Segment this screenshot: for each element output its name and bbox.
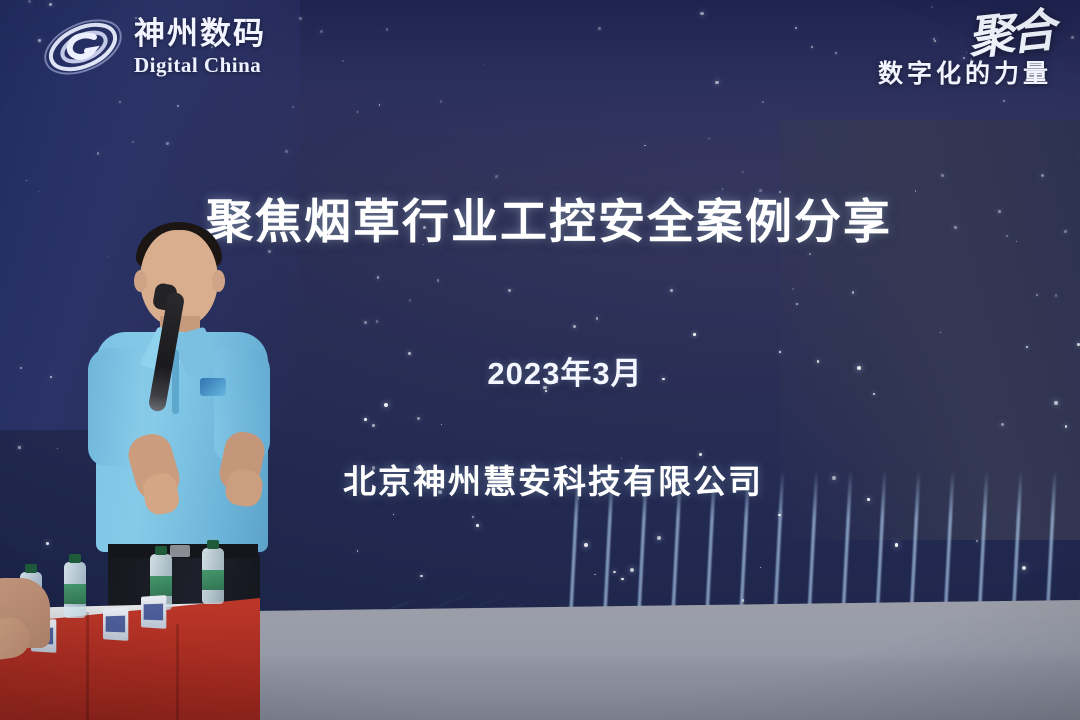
brand-juhe-mark: 聚合 bbox=[966, 10, 1054, 61]
star-dot bbox=[177, 105, 179, 107]
brand-name-cn: 神州数码 bbox=[134, 18, 266, 49]
star-dot bbox=[437, 279, 439, 281]
bottle-cap bbox=[207, 540, 219, 549]
star-dot bbox=[1036, 294, 1038, 296]
star-dot bbox=[613, 571, 615, 573]
star-dot bbox=[38, 39, 41, 42]
star-dot bbox=[742, 171, 744, 173]
star-dot bbox=[976, 540, 978, 542]
star-dot bbox=[384, 403, 388, 407]
table-skirt-fold bbox=[86, 612, 89, 720]
star-dot bbox=[132, 141, 134, 143]
name-card-text bbox=[144, 604, 163, 621]
speaker-shirt-logo bbox=[200, 378, 226, 396]
star-dot bbox=[1054, 401, 1058, 405]
star-dot bbox=[49, 3, 52, 6]
table-skirt-fold bbox=[176, 624, 179, 720]
star-dot bbox=[742, 599, 745, 602]
water-bottle bbox=[64, 562, 86, 618]
brand-digital-china: 神州数码 Digital China bbox=[44, 16, 266, 78]
bottle-cap bbox=[155, 546, 167, 555]
bottle-label bbox=[64, 584, 86, 604]
star-dot bbox=[166, 142, 169, 145]
star-dot bbox=[320, 30, 323, 33]
star-dot bbox=[285, 150, 288, 153]
star-dot bbox=[795, 27, 797, 29]
bottle-label bbox=[202, 570, 224, 590]
star-dot bbox=[693, 333, 695, 335]
brand-name-en: Digital China bbox=[134, 55, 266, 76]
speaker-belt-buckle bbox=[170, 545, 190, 557]
bottle-cap bbox=[69, 554, 81, 563]
star-dot bbox=[621, 578, 624, 581]
name-card bbox=[103, 607, 128, 641]
brand-juhe: 聚合 数字化的力量 bbox=[878, 14, 1052, 90]
star-dot bbox=[372, 424, 375, 427]
star-dot bbox=[715, 81, 718, 84]
water-bottle bbox=[202, 548, 224, 604]
speaker-ear-left bbox=[134, 270, 147, 292]
star-dot bbox=[299, 17, 302, 20]
bottle-label bbox=[150, 576, 172, 596]
star-dot bbox=[97, 152, 100, 155]
star-dot bbox=[778, 514, 781, 517]
star-dot bbox=[940, 332, 941, 333]
star-dot bbox=[594, 574, 596, 576]
star-dot bbox=[792, 288, 793, 289]
star-dot bbox=[364, 418, 367, 421]
speaker-figure bbox=[86, 222, 276, 642]
star-dot bbox=[573, 325, 576, 328]
star-dot bbox=[417, 417, 420, 420]
star-dot bbox=[700, 12, 703, 15]
star-dot bbox=[342, 60, 344, 62]
star-dot bbox=[598, 27, 601, 30]
brand-juhe-tagline: 数字化的力量 bbox=[878, 54, 1052, 90]
star-dot bbox=[292, 106, 294, 108]
bottle-cap bbox=[25, 564, 37, 573]
star-dot bbox=[584, 543, 588, 547]
star-dot bbox=[409, 299, 412, 302]
star-dot bbox=[26, 180, 27, 181]
star-dot bbox=[18, 446, 21, 449]
foreground-table bbox=[0, 580, 260, 720]
speaker-ear-right bbox=[212, 270, 225, 292]
name-card-text bbox=[106, 616, 125, 633]
star-dot bbox=[393, 514, 394, 515]
digital-china-swirl-icon bbox=[44, 16, 122, 78]
conference-photo: 神州数码 Digital China 聚合 数字化的力量 聚焦烟草行业工控安全案… bbox=[0, 0, 1080, 720]
name-card bbox=[141, 595, 166, 629]
